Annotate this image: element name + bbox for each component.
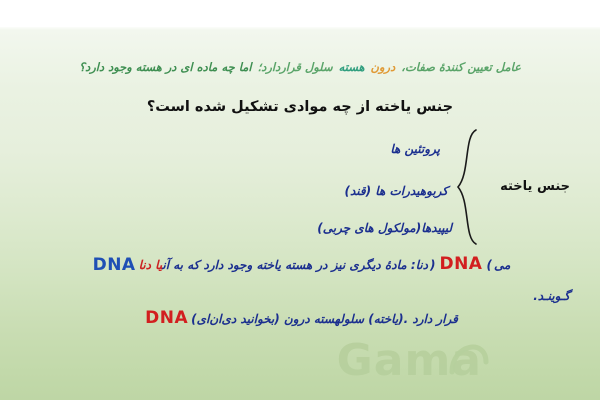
- location-tail: قرار دارد .: [404, 312, 458, 326]
- dna-paren-close: ): [484, 258, 493, 272]
- location-middle: درون: [280, 312, 314, 326]
- component-item-lipids: لیپیدها(مولکول های چربی): [317, 222, 452, 234]
- dna-location-line: قرار دارد .(یاخته) سلولهسته درون (بخوانی…: [0, 310, 600, 327]
- top-white-band: [0, 0, 600, 27]
- main-heading: جنس یاخته از چه موادی تشکیل شده است؟: [0, 100, 600, 115]
- intro-segment-5: اما چه ماده ای در هسته وجود دارد؟: [78, 60, 257, 74]
- watermark-arc-icon: [446, 332, 492, 376]
- dna-red-label-2: DNA: [142, 308, 191, 328]
- intro-segment-2: درون: [366, 60, 401, 74]
- slide-canvas: عامل تعیین کنندۀ صفات، درون هسته سلول قر…: [0, 0, 600, 400]
- location-pronunciation: (بخوانید دی‌ان‌ای): [191, 312, 280, 326]
- brace-label-cell-composition: جنس یاخته: [500, 180, 570, 193]
- intro-segment-3: هسته: [334, 60, 366, 74]
- location-hasteh: هسته: [314, 312, 340, 326]
- dna-explanation-line: می)DNA(دنا: مادۀ دیگری نیز در هسته یاخته…: [0, 256, 600, 274]
- intro-segment-4: سلول قراردارد؛: [257, 60, 334, 74]
- intro-question-line: عامل تعیین کنندۀ صفات، درون هسته سلول قر…: [0, 62, 600, 74]
- dna-body-text: : مادۀ دیگری نیز در هسته یاخته وجود دارد…: [162, 258, 415, 272]
- location-selool: سلول: [340, 312, 368, 326]
- dna-tail-mi: می: [494, 258, 510, 272]
- dna-red-label: DNA: [437, 254, 484, 274]
- dna-blue-label: DNA: [90, 255, 139, 275]
- intro-segment-1: عامل تعیین کنندۀ صفات،: [400, 60, 522, 74]
- component-item-proteins: پروتئین ها: [390, 143, 440, 155]
- dna-line-continuation: گـوینـد.: [533, 290, 570, 302]
- component-item-carbohydrates: کربوهیدرات ها (قند): [344, 185, 448, 197]
- curly-brace-icon: [454, 128, 480, 246]
- dna-or-text: یا دنا: [139, 258, 163, 272]
- dna-inline-word: دنا: [416, 258, 428, 272]
- location-yakhteh: (یاخته): [368, 312, 403, 326]
